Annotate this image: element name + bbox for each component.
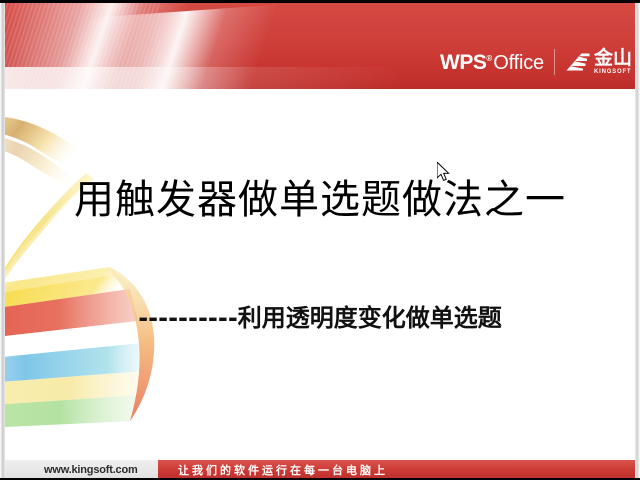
- slide-left-edge: [0, 0, 5, 480]
- kingsoft-emblem-icon: [565, 50, 591, 74]
- office-wordmark-text: Office: [493, 53, 544, 73]
- slide-footer: www.kingsoft.com 让我们的软件运行在每一台电脑上: [0, 449, 640, 478]
- wps-wordmark-text: WPS: [440, 52, 486, 73]
- kingsoft-english-name: KINGSOFT: [594, 69, 631, 75]
- brand-lockup: WPS ® Office 金山 KINGSOFT: [440, 49, 632, 75]
- footer-tagline-band: 让我们的软件运行在每一台电脑上: [158, 460, 640, 478]
- slide-subtitle: ----------利用透明度变化做单选题: [0, 298, 640, 333]
- kingsoft-logo: 金山 KINGSOFT: [565, 49, 632, 75]
- kingsoft-name-stack: 金山 KINGSOFT: [594, 49, 632, 75]
- slide-right-edge: [635, 0, 640, 480]
- title-block: 用触发器做单选题做法之一 ----------利用透明度变化做单选题: [0, 89, 640, 451]
- presentation-slide: WPS ® Office 金山 KINGSOFT: [0, 0, 640, 480]
- brand-divider: [554, 49, 555, 75]
- slide-header-banner: WPS ® Office 金山 KINGSOFT: [0, 3, 640, 89]
- footer-tagline-text: 让我们的软件运行在每一台电脑上: [178, 462, 388, 478]
- footer-website-url: www.kingsoft.com: [44, 464, 138, 476]
- header-light-fade: [0, 67, 400, 89]
- wps-registered-mark: ®: [486, 55, 492, 63]
- slide-body: 用触发器做单选题做法之一 ----------利用透明度变化做单选题: [0, 89, 640, 451]
- wps-office-wordmark: WPS ® Office: [440, 52, 544, 73]
- kingsoft-chinese-name: 金山: [594, 49, 632, 68]
- slide-title: 用触发器做单选题做法之一: [0, 167, 640, 225]
- slide-top-edge: [0, 0, 640, 3]
